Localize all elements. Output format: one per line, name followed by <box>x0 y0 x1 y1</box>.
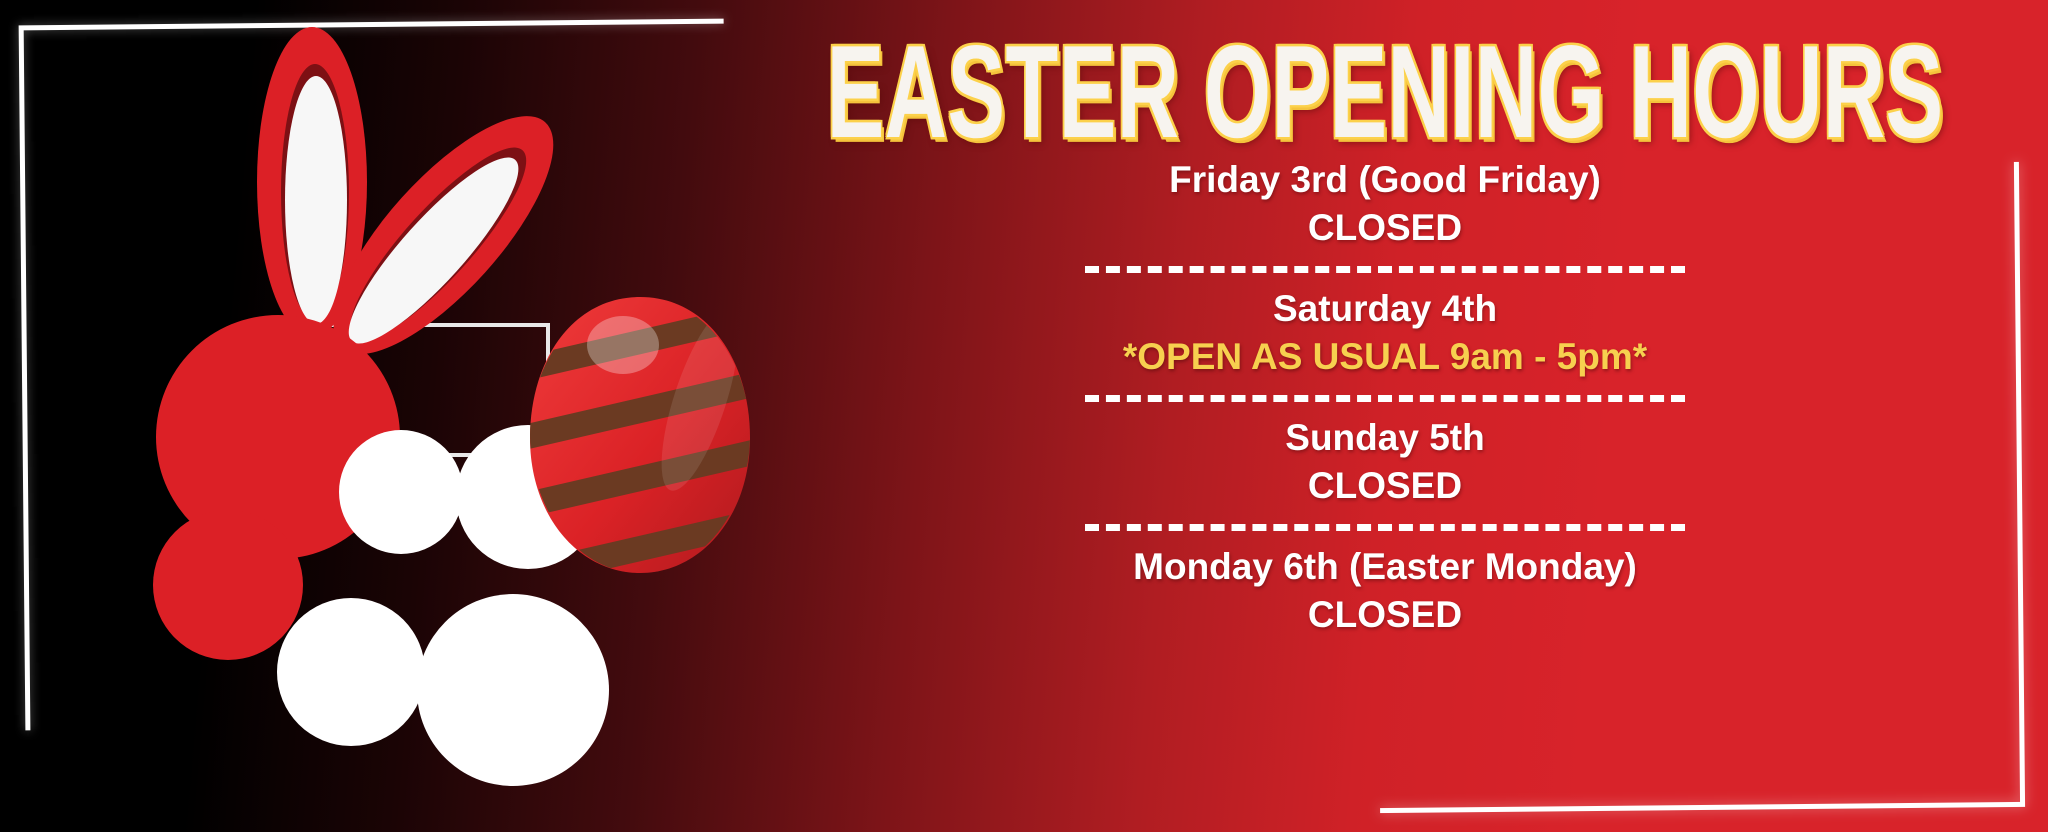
schedule-divider <box>1085 266 1685 273</box>
schedule-status: CLOSED <box>820 204 1950 253</box>
schedule-day-label: Sunday 5th <box>820 414 1950 462</box>
easter-illustration <box>0 0 800 832</box>
schedule-divider <box>1085 395 1685 402</box>
accent-circle-white-3 <box>277 598 425 746</box>
easter-opening-hours-banner: EASTER OPENING HOURS Friday 3rd (Good Fr… <box>0 0 2048 832</box>
page-title: EASTER OPENING HOURS <box>827 26 1944 158</box>
accent-circle-white-4 <box>417 594 609 786</box>
schedule-item-monday: Monday 6th (Easter Monday) CLOSED <box>820 543 1950 640</box>
schedule-item-sunday: Sunday 5th CLOSED <box>820 414 1950 511</box>
schedule-day-label: Saturday 4th <box>820 285 1950 333</box>
schedule-day-label: Monday 6th (Easter Monday) <box>820 543 1950 591</box>
schedule-status: CLOSED <box>820 591 1950 640</box>
schedule-status: CLOSED <box>820 462 1950 511</box>
schedule-item-friday: Friday 3rd (Good Friday) CLOSED <box>820 156 1950 253</box>
accent-circle-red <box>153 510 303 660</box>
schedule-list: Friday 3rd (Good Friday) CLOSED Saturday… <box>820 156 1950 640</box>
accent-circle-white-1 <box>339 430 463 554</box>
content-column: EASTER OPENING HOURS Friday 3rd (Good Fr… <box>820 0 1950 832</box>
schedule-divider <box>1085 524 1685 531</box>
schedule-status: *OPEN AS USUAL 9am - 5pm* <box>820 333 1950 382</box>
schedule-item-saturday: Saturday 4th *OPEN AS USUAL 9am - 5pm* <box>820 285 1950 382</box>
